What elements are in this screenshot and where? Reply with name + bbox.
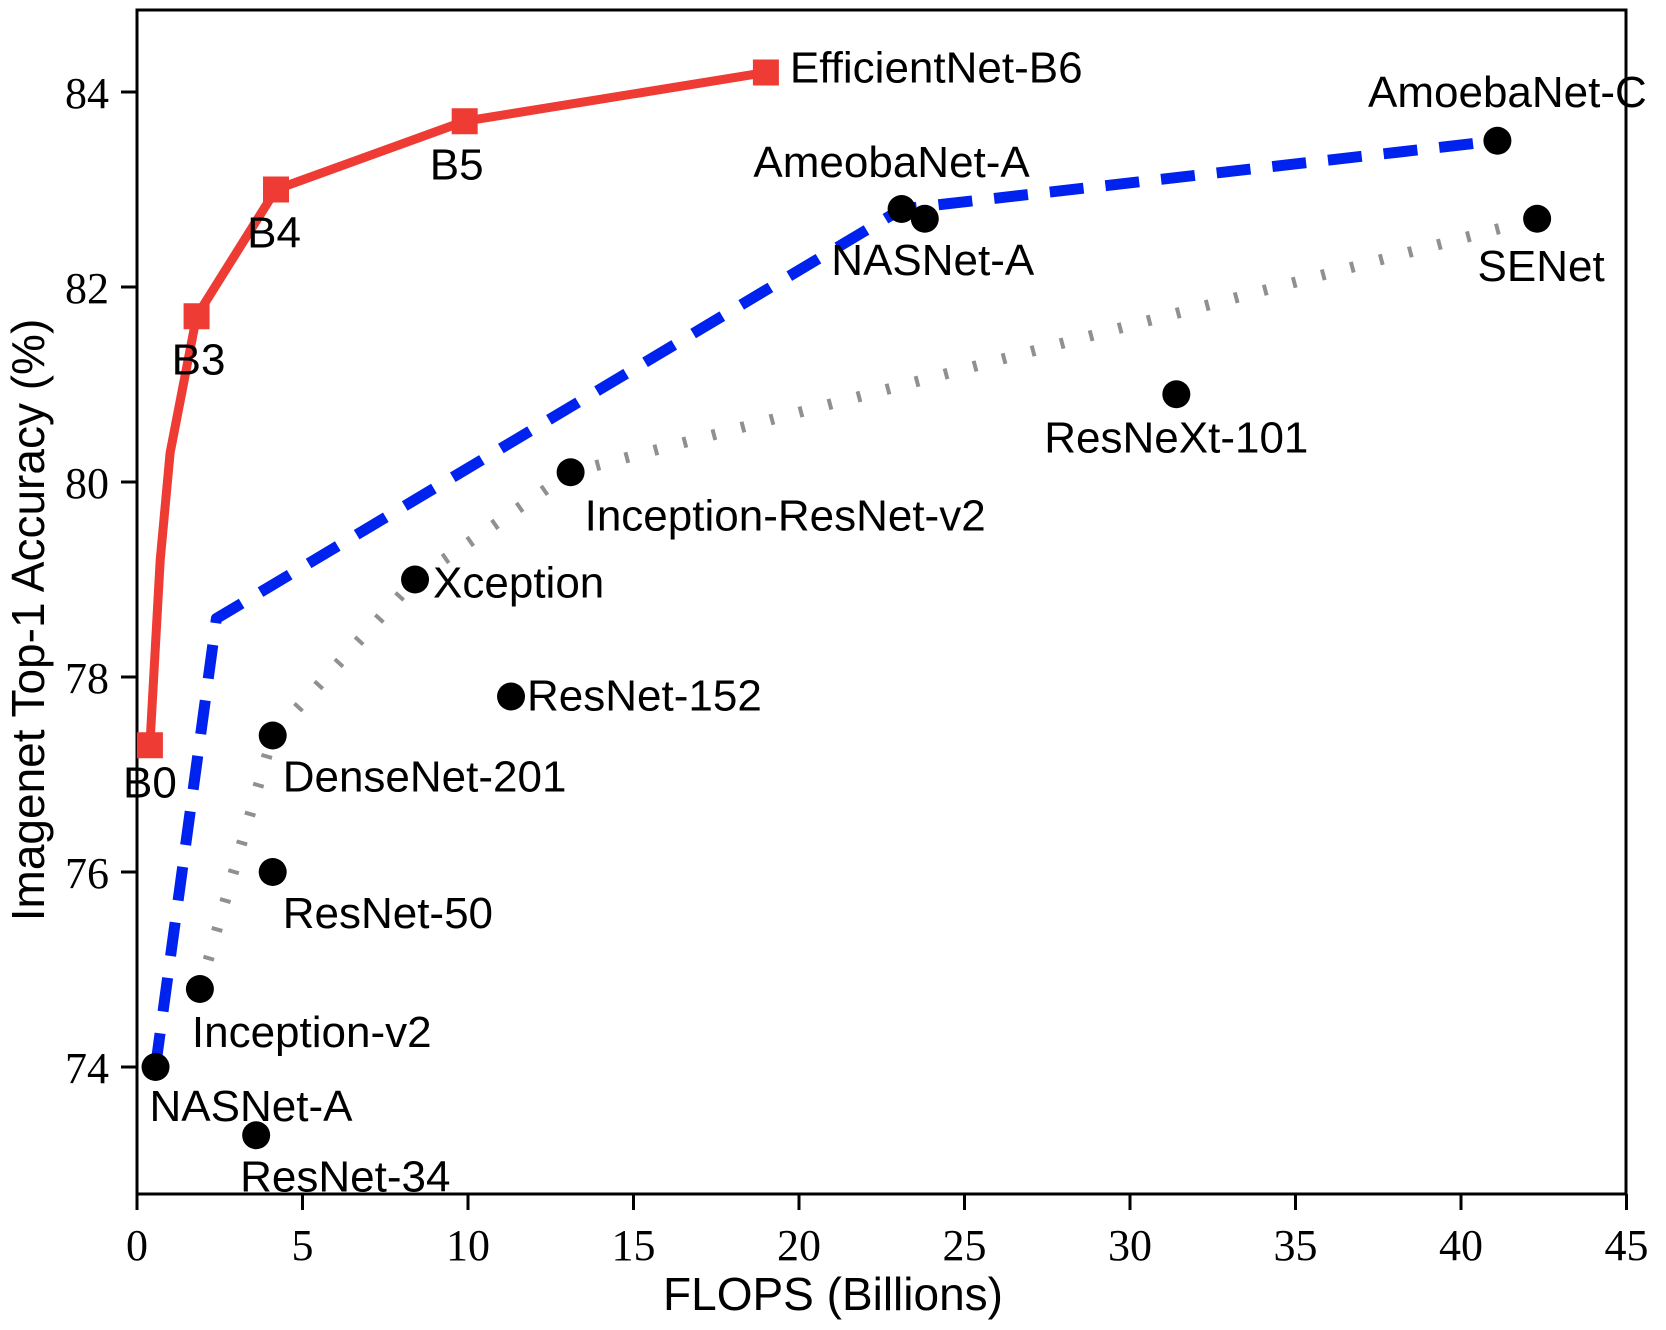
x-tick-label: 25 bbox=[943, 1221, 987, 1270]
x-tick-label: 35 bbox=[1274, 1221, 1318, 1270]
data-point-marker bbox=[497, 683, 525, 711]
data-point-marker bbox=[1523, 205, 1551, 233]
data-point-label: AmoebaNet-C bbox=[1368, 68, 1647, 117]
y-tick-label: 74 bbox=[65, 1044, 109, 1093]
data-point-marker bbox=[259, 858, 287, 886]
y-tick-label: 82 bbox=[65, 264, 109, 313]
x-tick-label: 0 bbox=[126, 1221, 148, 1270]
data-point-marker bbox=[401, 566, 429, 594]
data-point-label: B0 bbox=[123, 758, 177, 807]
data-point-marker bbox=[263, 177, 289, 203]
data-point-marker bbox=[1162, 380, 1190, 408]
data-point-marker bbox=[1483, 127, 1511, 155]
imagenet-accuracy-vs-flops-plot: 051015202530354045 747678808284 Efficien… bbox=[0, 0, 1666, 1330]
data-point-label: ResNet-152 bbox=[527, 672, 762, 721]
data-point-label: NASNet-A bbox=[150, 1082, 354, 1131]
data-point-label: AmeobaNet-A bbox=[753, 138, 1030, 187]
data-point-label: Xception bbox=[433, 559, 604, 608]
x-tick-label: 30 bbox=[1108, 1221, 1152, 1270]
data-point-label: B4 bbox=[247, 209, 301, 258]
y-tick-label: 76 bbox=[65, 849, 109, 898]
x-axis-title: FLOPS (Billions) bbox=[663, 1268, 1003, 1320]
data-point-marker bbox=[142, 1053, 170, 1081]
data-point-marker bbox=[184, 303, 210, 329]
x-tick-label: 40 bbox=[1439, 1221, 1483, 1270]
data-point-label: ResNet-50 bbox=[283, 889, 493, 938]
data-point-label: ResNet-34 bbox=[240, 1152, 450, 1201]
x-tick-label: 5 bbox=[292, 1221, 314, 1270]
data-point-marker bbox=[452, 108, 478, 134]
data-point-label: NASNet-A bbox=[831, 236, 1035, 285]
y-axis-title: Imagenet Top-1 Accuracy (%) bbox=[2, 319, 54, 922]
y-tick-label: 80 bbox=[65, 459, 109, 508]
data-point-marker bbox=[911, 205, 939, 233]
data-point-label: B3 bbox=[172, 335, 226, 384]
data-point-marker bbox=[137, 732, 163, 758]
data-point-label: SENet bbox=[1478, 242, 1605, 291]
x-tick-label: 20 bbox=[777, 1221, 821, 1270]
data-point-marker bbox=[557, 458, 585, 486]
x-tick-label: 10 bbox=[446, 1221, 490, 1270]
x-tick-label: 45 bbox=[1605, 1221, 1649, 1270]
y-tick-label: 78 bbox=[65, 654, 109, 703]
data-point-marker bbox=[259, 722, 287, 750]
data-point-marker bbox=[753, 60, 779, 86]
data-point-label: B5 bbox=[430, 140, 484, 189]
y-tick-label: 84 bbox=[65, 69, 109, 118]
x-tick-label: 15 bbox=[612, 1221, 656, 1270]
data-point-label: Inception-v2 bbox=[192, 1008, 432, 1057]
data-point-label: EfficientNet-B6 bbox=[790, 44, 1083, 93]
data-point-label: Inception-ResNet-v2 bbox=[585, 491, 986, 540]
data-point-label: ResNeXt-101 bbox=[1044, 413, 1308, 462]
chart-container: 051015202530354045 747678808284 Efficien… bbox=[0, 0, 1666, 1330]
data-point-label: DenseNet-201 bbox=[283, 753, 567, 802]
data-point-marker bbox=[186, 975, 214, 1003]
